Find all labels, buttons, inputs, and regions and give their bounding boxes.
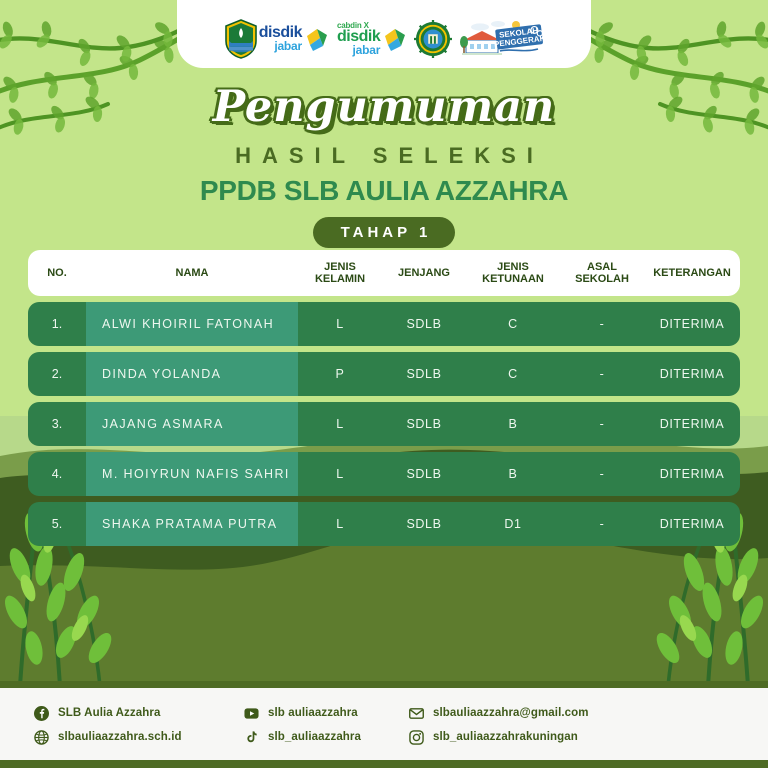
cell-nama: M. HOIYRUN NAFIS SAHRI	[86, 452, 298, 496]
cell-no: 2.	[28, 352, 86, 396]
cell-no: 4.	[28, 452, 86, 496]
footer-column-2: slb auliaazzahra slb_auliaazzahra	[244, 706, 409, 745]
cell-jenjang: SDLB	[382, 502, 466, 546]
col-jk-line2: KELAMIN	[315, 273, 365, 285]
column-header-jenis-kelamin: JENIS KELAMIN	[298, 261, 382, 286]
cabdin-wordmark: cabdin X disdik jabar	[337, 22, 380, 55]
table-header-row: NO. NAMA JENIS KELAMIN JENJANG JENIS KET…	[28, 250, 740, 296]
cell-jenis-ketunaan: B	[466, 452, 560, 496]
cell-keterangan: DITERIMA	[644, 402, 740, 446]
cell-keterangan: DITERIMA	[644, 502, 740, 546]
cell-jenjang: SDLB	[382, 302, 466, 346]
column-header-nama: NAMA	[86, 267, 298, 279]
cabdin-book-icon	[382, 26, 408, 52]
footer-item-tiktok[interactable]: slb_auliaazzahra	[244, 730, 409, 745]
jabar-emblem-logo: disdik jabar	[224, 17, 330, 61]
cell-jenis-kelamin: P	[298, 352, 382, 396]
email-icon	[409, 706, 424, 721]
cell-asal-sekolah: -	[560, 502, 644, 546]
col-kt-line1: JENIS	[497, 261, 529, 273]
footer-top-bar	[0, 681, 768, 688]
tiktok-icon	[244, 730, 259, 745]
column-header-no: NO.	[28, 267, 86, 279]
jabar-emblem-icon	[224, 19, 258, 59]
cell-asal-sekolah: -	[560, 352, 644, 396]
footer-item-email[interactable]: slbauliaazzahra@gmail.com	[409, 706, 689, 721]
column-header-keterangan: KETERANGAN	[644, 267, 740, 279]
footer-bottom-bar	[0, 760, 768, 768]
facebook-icon	[34, 706, 49, 721]
disdik-line2: jabar	[259, 41, 302, 52]
cell-jenjang: SDLB	[382, 452, 466, 496]
cell-asal-sekolah: -	[560, 302, 644, 346]
table-row: 1. ALWI KHOIRIL FATONAH L SDLB C - DITER…	[28, 302, 740, 346]
col-as-line1: ASAL	[587, 261, 617, 273]
tahap-badge: TAHAP 1	[313, 217, 456, 248]
footer-text-instagram: slb_auliaazzahrakuningan	[433, 731, 578, 743]
youtube-icon	[244, 706, 259, 721]
footer-column-1: SLB Aulia Azzahra slbauliaazzahra.sch.id	[34, 706, 244, 745]
announcement-script-title: Pengumuman	[0, 86, 768, 129]
cell-jenis-ketunaan: D1	[466, 502, 560, 546]
footer-item-youtube[interactable]: slb auliaazzahra	[244, 706, 409, 721]
cell-jenis-kelamin: L	[298, 502, 382, 546]
table-row: 3. JAJANG ASMARA L SDLB B - DITERIMA	[28, 402, 740, 446]
cell-no: 5.	[28, 502, 86, 546]
footer-column-3: slbauliaazzahra@gmail.com slb_auliaazzah…	[409, 706, 689, 745]
footer-text-tiktok: slb_auliaazzahra	[268, 731, 361, 743]
cell-keterangan: DITERIMA	[644, 352, 740, 396]
title-block: Pengumuman HASIL SELEKSI PPDB SLB AULIA …	[0, 86, 768, 248]
cell-jenis-ketunaan: C	[466, 352, 560, 396]
sekolah-seal-icon	[414, 20, 452, 58]
main-title-ppdb: PPDB SLB AULIA AZZAHRA	[0, 175, 768, 207]
cell-no: 3.	[28, 402, 86, 446]
cell-jenis-kelamin: L	[298, 302, 382, 346]
cell-asal-sekolah: -	[560, 452, 644, 496]
table-row: 5. SHAKA PRATAMA PUTRA L SDLB D1 - DITER…	[28, 502, 740, 546]
subtitle-hasil-seleksi: HASIL SELEKSI	[0, 143, 768, 169]
col-jk-line1: JENIS	[324, 261, 356, 273]
globe-icon	[34, 730, 49, 745]
footer-item-facebook[interactable]: SLB Aulia Azzahra	[34, 706, 244, 721]
cell-asal-sekolah: -	[560, 402, 644, 446]
cell-jenjang: SDLB	[382, 352, 466, 396]
footer-text-email: slbauliaazzahra@gmail.com	[433, 707, 589, 719]
cell-jenis-ketunaan: B	[466, 402, 560, 446]
disdik-book-icon	[304, 26, 330, 52]
footer-contact-bar: SLB Aulia Azzahra slbauliaazzahra.sch.id…	[0, 688, 768, 762]
footer-item-website[interactable]: slbauliaazzahra.sch.id	[34, 730, 244, 745]
logo-bar: disdik jabar cabdin X disdik jabar	[177, 0, 591, 68]
cell-nama: DINDA YOLANDA	[86, 352, 298, 396]
cabdin-disdik-logo: cabdin X disdik jabar	[336, 17, 408, 61]
sekolah-penggerak-icon: SEKOLAH PENGGERAK	[458, 18, 544, 60]
cell-keterangan: DITERIMA	[644, 302, 740, 346]
column-header-asal-sekolah: ASAL SEKOLAH	[560, 261, 644, 286]
footer-item-instagram[interactable]: slb_auliaazzahrakuningan	[409, 730, 689, 745]
disdik-jabar-wordmark: disdik jabar	[259, 26, 302, 52]
results-table: NO. NAMA JENIS KELAMIN JENJANG JENIS KET…	[28, 250, 740, 546]
sekolah-penggerak-logo: SEKOLAH PENGGERAK	[458, 17, 544, 61]
cell-jenjang: SDLB	[382, 402, 466, 446]
cell-nama: ALWI KHOIRIL FATONAH	[86, 302, 298, 346]
sekolah-seal-logo	[414, 17, 452, 61]
cell-nama: JAJANG ASMARA	[86, 402, 298, 446]
cell-jenis-kelamin: L	[298, 452, 382, 496]
footer-text-youtube: slb auliaazzahra	[268, 707, 358, 719]
column-header-jenis-ketunaan: JENIS KETUNAAN	[466, 261, 560, 286]
cell-nama: SHAKA PRATAMA PUTRA	[86, 502, 298, 546]
col-kt-line2: KETUNAAN	[482, 273, 544, 285]
cabdin-line2: jabar	[337, 45, 380, 56]
cell-jenis-ketunaan: C	[466, 302, 560, 346]
cell-jenis-kelamin: L	[298, 402, 382, 446]
cell-keterangan: DITERIMA	[644, 452, 740, 496]
table-row: 4. M. HOIYRUN NAFIS SAHRI L SDLB B - DIT…	[28, 452, 740, 496]
footer-text-website: slbauliaazzahra.sch.id	[58, 731, 182, 743]
instagram-icon	[409, 730, 424, 745]
table-row: 2. DINDA YOLANDA P SDLB C - DITERIMA	[28, 352, 740, 396]
column-header-jenjang: JENJANG	[382, 267, 466, 279]
cell-no: 1.	[28, 302, 86, 346]
col-as-line2: SEKOLAH	[575, 273, 629, 285]
footer-text-facebook: SLB Aulia Azzahra	[58, 707, 160, 719]
